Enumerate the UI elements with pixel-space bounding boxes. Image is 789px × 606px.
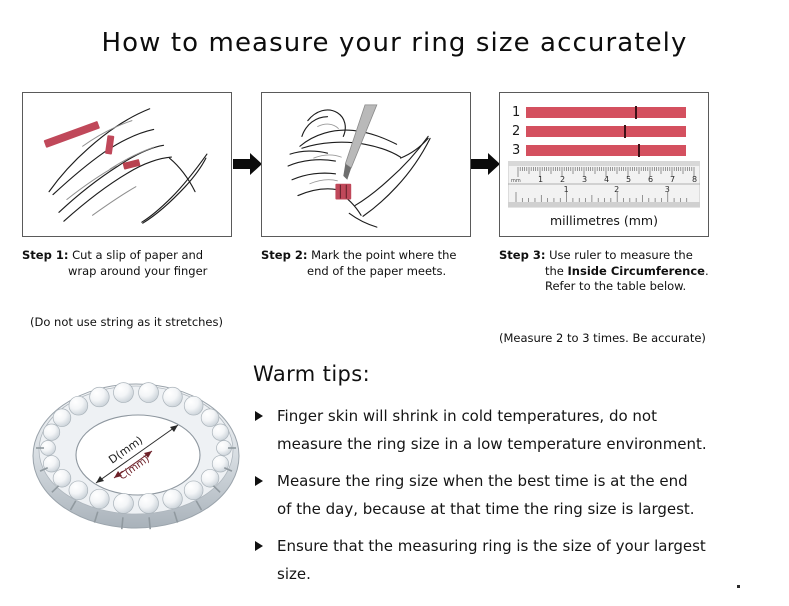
ring-gemstone xyxy=(53,469,71,487)
ring-photo-art: D(mm) C(mm) xyxy=(26,352,246,557)
ring-gemstone xyxy=(212,456,228,472)
step-2-line1: Mark the point where the xyxy=(311,248,456,262)
step-column-1: Step 1: Cut a slip of paper and wrap aro… xyxy=(22,92,234,279)
ring-diagram: D(mm) C(mm) xyxy=(26,352,246,557)
arrow-step2-to-step3 xyxy=(471,150,501,178)
strip-1-number: 1 xyxy=(512,106,526,119)
step-3-line2: the Inside Circumference. xyxy=(499,264,715,280)
strip-2-mark xyxy=(624,125,626,138)
ruler-bottom-tick-label: 3 xyxy=(665,185,670,194)
step-3-line1: Use ruler to measure the xyxy=(549,248,693,262)
ring-gemstone xyxy=(114,383,134,403)
strip-3-number: 3 xyxy=(512,144,526,157)
tip-item: Measure the ring size when the best time… xyxy=(253,467,773,523)
step-2-caption: Step 2: Mark the point where the end of … xyxy=(261,248,477,279)
ring-gemstone xyxy=(201,409,219,427)
ruler-bottom-tick-label: 2 xyxy=(614,185,619,194)
ring-gemstone xyxy=(53,409,71,427)
step-1-label: Step 1: xyxy=(22,248,68,262)
step-3-line2-pre: the xyxy=(545,264,568,278)
strip-1-bar xyxy=(526,107,686,118)
ruler-bottom-tick-label: 1 xyxy=(564,185,569,194)
tip-2-line2: of the day, because at that time the rin… xyxy=(277,495,773,523)
triangle-bullet-icon xyxy=(255,476,263,486)
ruler-caption: millimetres (mm) xyxy=(500,213,708,228)
ring-gemstone xyxy=(212,424,228,440)
warm-tips-heading: Warm tips: xyxy=(253,362,773,386)
ring-gemstone xyxy=(184,481,203,500)
step-3-line3: Refer to the table below. xyxy=(499,279,715,295)
ring-gemstone xyxy=(90,387,110,407)
measured-strip-3: 3 xyxy=(512,144,698,157)
step-1-caption: Step 1: Cut a slip of paper and wrap aro… xyxy=(22,248,238,279)
step-1-line2: wrap around your finger xyxy=(22,264,238,280)
tip-1-line2: measure the ring size in a low temperatu… xyxy=(277,430,773,458)
ruler-top-tick-label: 7 xyxy=(670,175,675,184)
measured-strip-1: 1 xyxy=(512,106,698,119)
ruler-top-tick-label: 2 xyxy=(560,175,565,184)
strip-2-number: 2 xyxy=(512,125,526,138)
step-1-note: (Do not use string as it stretches) xyxy=(30,315,223,329)
arrow-step1-to-step2 xyxy=(233,150,263,178)
ruler-top-tick-label: 3 xyxy=(582,175,587,184)
image-speck xyxy=(737,585,740,588)
tip-3-line2: size. xyxy=(277,560,773,588)
strip-3-mark xyxy=(638,144,640,157)
step-3-label: Step 3: xyxy=(499,248,545,262)
triangle-bullet-icon xyxy=(255,541,263,551)
step-3-inside-circumference: Inside Circumference xyxy=(568,264,705,278)
strip-2-bar xyxy=(526,126,686,137)
ring-gemstone xyxy=(69,481,88,500)
strip-3-bar xyxy=(526,145,686,156)
arrow-right-icon xyxy=(471,150,501,178)
ring-gemstone xyxy=(139,383,159,403)
ruler-top-tick-label: 6 xyxy=(648,175,653,184)
ruler-top-tick-label: 8 xyxy=(692,175,697,184)
strip-1-mark xyxy=(635,106,637,119)
ring-gemstone xyxy=(114,493,134,513)
ring-gemstone xyxy=(201,469,219,487)
ring-gemstone xyxy=(43,424,59,440)
step-2-line2: end of the paper meets. xyxy=(261,264,477,280)
ruler-top-tick-label: 5 xyxy=(626,175,631,184)
step-3-illustration: 1 2 3 xyxy=(499,92,709,237)
tip-item: Ensure that the measuring ring is the si… xyxy=(253,532,773,588)
ruler-top-tick-label: 1 xyxy=(538,175,543,184)
warm-tips-section: Warm tips: Finger skin will shrink in co… xyxy=(253,362,773,597)
step-1-illustration xyxy=(22,92,232,237)
arrow-right-icon xyxy=(233,150,263,178)
ring-gemstone xyxy=(43,456,59,472)
ruler-graphic: 12345678 123 mm xyxy=(508,161,700,209)
ruler-top-tick-label: 4 xyxy=(604,175,609,184)
step-3-line2-post: . xyxy=(705,264,709,278)
step-3-note: (Measure 2 to 3 times. Be accurate) xyxy=(499,331,706,345)
tip-1-line1: Finger skin will shrink in cold temperat… xyxy=(277,402,773,430)
ring-gemstone xyxy=(139,493,159,513)
step-column-2: Step 2: Mark the point where the end of … xyxy=(261,92,473,279)
tip-3-line1: Ensure that the measuring ring is the si… xyxy=(277,532,773,560)
ring-gemstone xyxy=(69,396,88,415)
steps-row: Step 1: Cut a slip of paper and wrap aro… xyxy=(0,92,789,342)
step-3-caption: Step 3: Use ruler to measure the the Ins… xyxy=(499,248,715,295)
step-1-line1: Cut a slip of paper and xyxy=(72,248,203,262)
tip-item: Finger skin will shrink in cold temperat… xyxy=(253,402,773,458)
step-column-3: 1 2 3 xyxy=(499,92,711,295)
ring-gemstone xyxy=(184,396,203,415)
step-2-label: Step 2: xyxy=(261,248,307,262)
triangle-bullet-icon xyxy=(255,411,263,421)
hand-with-paper-slip-art xyxy=(23,93,231,236)
ring-gemstone xyxy=(163,387,183,407)
page-title: How to measure your ring size accurately xyxy=(0,28,789,58)
step-2-illustration xyxy=(261,92,471,237)
tip-2-line1: Measure the ring size when the best time… xyxy=(277,467,773,495)
hand-marking-with-pen-art xyxy=(262,93,470,236)
ring-gemstone xyxy=(90,489,110,509)
ruler-unit-mm: mm xyxy=(511,178,521,184)
ring-gemstone xyxy=(163,489,183,509)
measured-strip-2: 2 xyxy=(512,125,698,138)
